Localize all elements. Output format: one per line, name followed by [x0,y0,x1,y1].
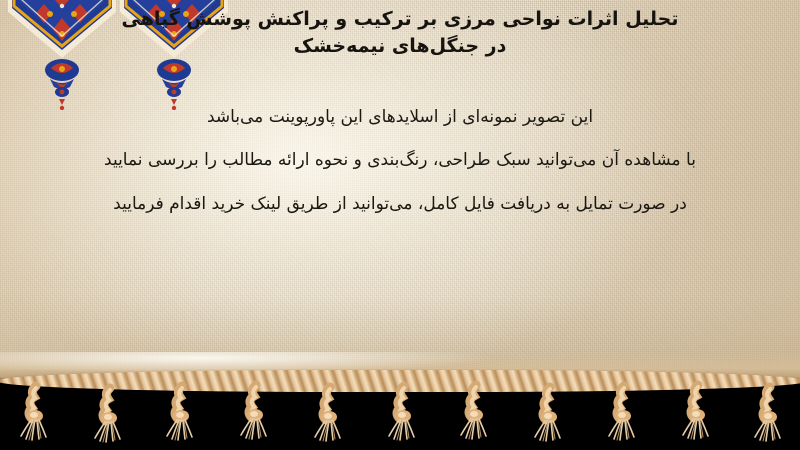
slide-body-line-2: با مشاهده آن می‌توانید سبک طراحی، رنگ‌بن… [28,139,772,182]
slide-body-line-3: در صورت تمایل به دریافت فایل کامل، می‌تو… [28,183,772,226]
slide-title-line-2: در جنگل‌های نیمه‌خشک [20,33,780,60]
slide-title: تحلیل اثرات نواحی مرزی بر ترکیب و پراکنش… [20,6,780,60]
slide-body-line-1: این تصویر نمونه‌ای از اسلایدهای این پاور… [28,96,772,139]
fringe-tassels-group [0,370,800,450]
tassel-fringe [0,370,800,450]
slide-canvas: تحلیل اثرات نواحی مرزی بر ترکیب و پراکنش… [0,0,800,450]
slide-text-area: تحلیل اثرات نواحی مرزی بر ترکیب و پراکنش… [0,0,800,360]
slide-body: این تصویر نمونه‌ای از اسلایدهای این پاور… [28,96,772,226]
slide-title-line-1: تحلیل اثرات نواحی مرزی بر ترکیب و پراکنش… [20,6,780,33]
